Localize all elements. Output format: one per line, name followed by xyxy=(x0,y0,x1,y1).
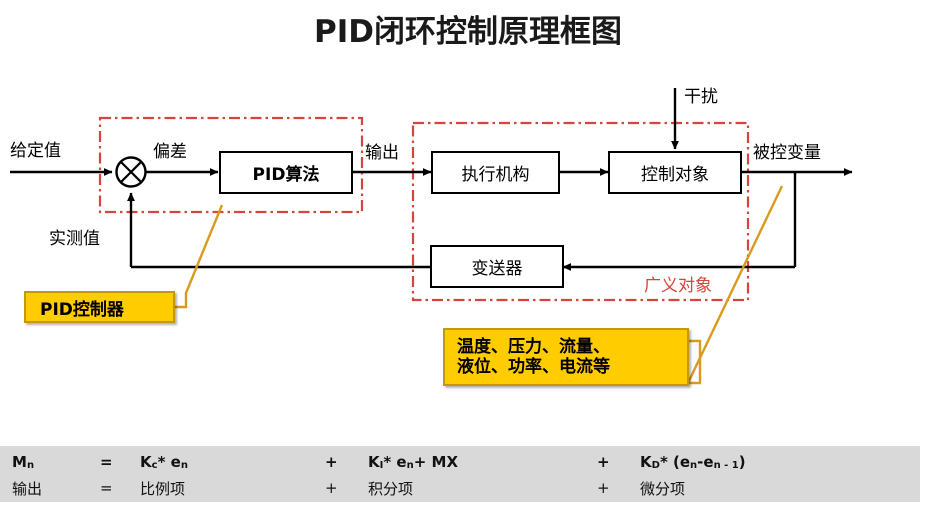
formula-kd-sub3: n - 1 xyxy=(714,460,739,471)
leader-line-pid-controller xyxy=(175,205,222,307)
formula-kp-rest: * e xyxy=(158,453,181,471)
formula-row-symbolic: Mn = Kc * en + KI * en + MX + KD * (en-e… xyxy=(0,449,920,475)
label-measured-value: 实测值 xyxy=(49,224,100,249)
block-actuator[interactable]: 执行机构 xyxy=(431,151,560,194)
formula-lhs-symbolic: Mn xyxy=(12,449,34,475)
block-pid-algorithm[interactable]: PID算法 xyxy=(219,151,353,194)
formula-proportional-term-symbolic: Kc * en xyxy=(140,449,188,475)
formula-kd-sub: D xyxy=(652,460,660,471)
formula-plus-2-symbolic: + xyxy=(597,449,610,475)
formula-ki-rest: * e xyxy=(383,453,406,471)
block-label-pid-algorithm: PID算法 xyxy=(253,160,320,185)
formula-kp: K xyxy=(140,453,152,471)
callout-pid-controller[interactable]: PID控制器 xyxy=(24,291,175,323)
formula-bar: Mn = Kc * en + KI * en + MX + KD * (en-e… xyxy=(0,446,920,502)
label-output: 输出 xyxy=(365,138,399,163)
formula-plus-1-chinese: + xyxy=(325,475,338,501)
formula-kd-rest3: ) xyxy=(739,453,746,471)
formula-kd-sub2: n xyxy=(690,460,697,471)
label-controlled-variable: 被控变量 xyxy=(753,138,821,163)
label-deviation: 偏差 xyxy=(153,137,187,162)
formula-kp-sub: c xyxy=(152,460,158,471)
callout-measured-variables[interactable]: 温度、压力、流量、 液位、功率、电流等 xyxy=(443,328,689,386)
block-transmitter[interactable]: 变送器 xyxy=(430,245,564,288)
formula-proportional-term-chinese: 比例项 xyxy=(140,475,185,501)
callout-line-2: 液位、功率、电流等 xyxy=(457,357,610,377)
formula-ki: K xyxy=(368,453,380,471)
formula-derivative-term-chinese: 微分项 xyxy=(640,475,685,501)
formula-derivative-term-symbolic: KD * (en-en - 1) xyxy=(640,449,746,475)
formula-lhs-text: M xyxy=(12,453,27,471)
formula-kd-rest2: -e xyxy=(697,453,713,471)
label-disturbance: 干扰 xyxy=(684,82,718,107)
formula-integral-term-chinese: 积分项 xyxy=(368,475,413,501)
formula-kd: K xyxy=(640,453,652,471)
formula-row-chinese: 输出 = 比例项 + 积分项 + 微分项 xyxy=(0,475,920,501)
formula-lhs-chinese: 输出 xyxy=(12,475,42,501)
formula-kd-rest: * (e xyxy=(660,453,690,471)
formula-ki-rest-sub: n xyxy=(407,460,414,471)
block-label-actuator: 执行机构 xyxy=(462,160,530,185)
callout-label-pid-controller: PID控制器 xyxy=(40,295,124,320)
formula-equals-chinese: = xyxy=(100,475,113,501)
label-generalized-plant: 广义对象 xyxy=(644,271,712,296)
block-label-transmitter: 变送器 xyxy=(472,254,523,279)
formula-lhs-sub: n xyxy=(27,460,34,471)
formula-ki-tail: + MX xyxy=(414,453,458,471)
block-plant[interactable]: 控制对象 xyxy=(608,151,742,194)
formula-ki-sub: I xyxy=(380,460,384,471)
formula-integral-term-symbolic: KI * en + MX xyxy=(368,449,458,475)
formula-plus-1-symbolic: + xyxy=(325,449,338,475)
formula-plus-2-chinese: + xyxy=(597,475,610,501)
formula-equals-symbolic: = xyxy=(100,449,113,475)
diagram-canvas: PID闭环控制原理框图 xyxy=(0,0,936,513)
callout-line-1: 温度、压力、流量、 xyxy=(457,337,610,357)
block-label-plant: 控制对象 xyxy=(641,160,709,185)
formula-kp-rest-sub: n xyxy=(181,460,188,471)
label-setpoint: 给定值 xyxy=(10,136,61,161)
